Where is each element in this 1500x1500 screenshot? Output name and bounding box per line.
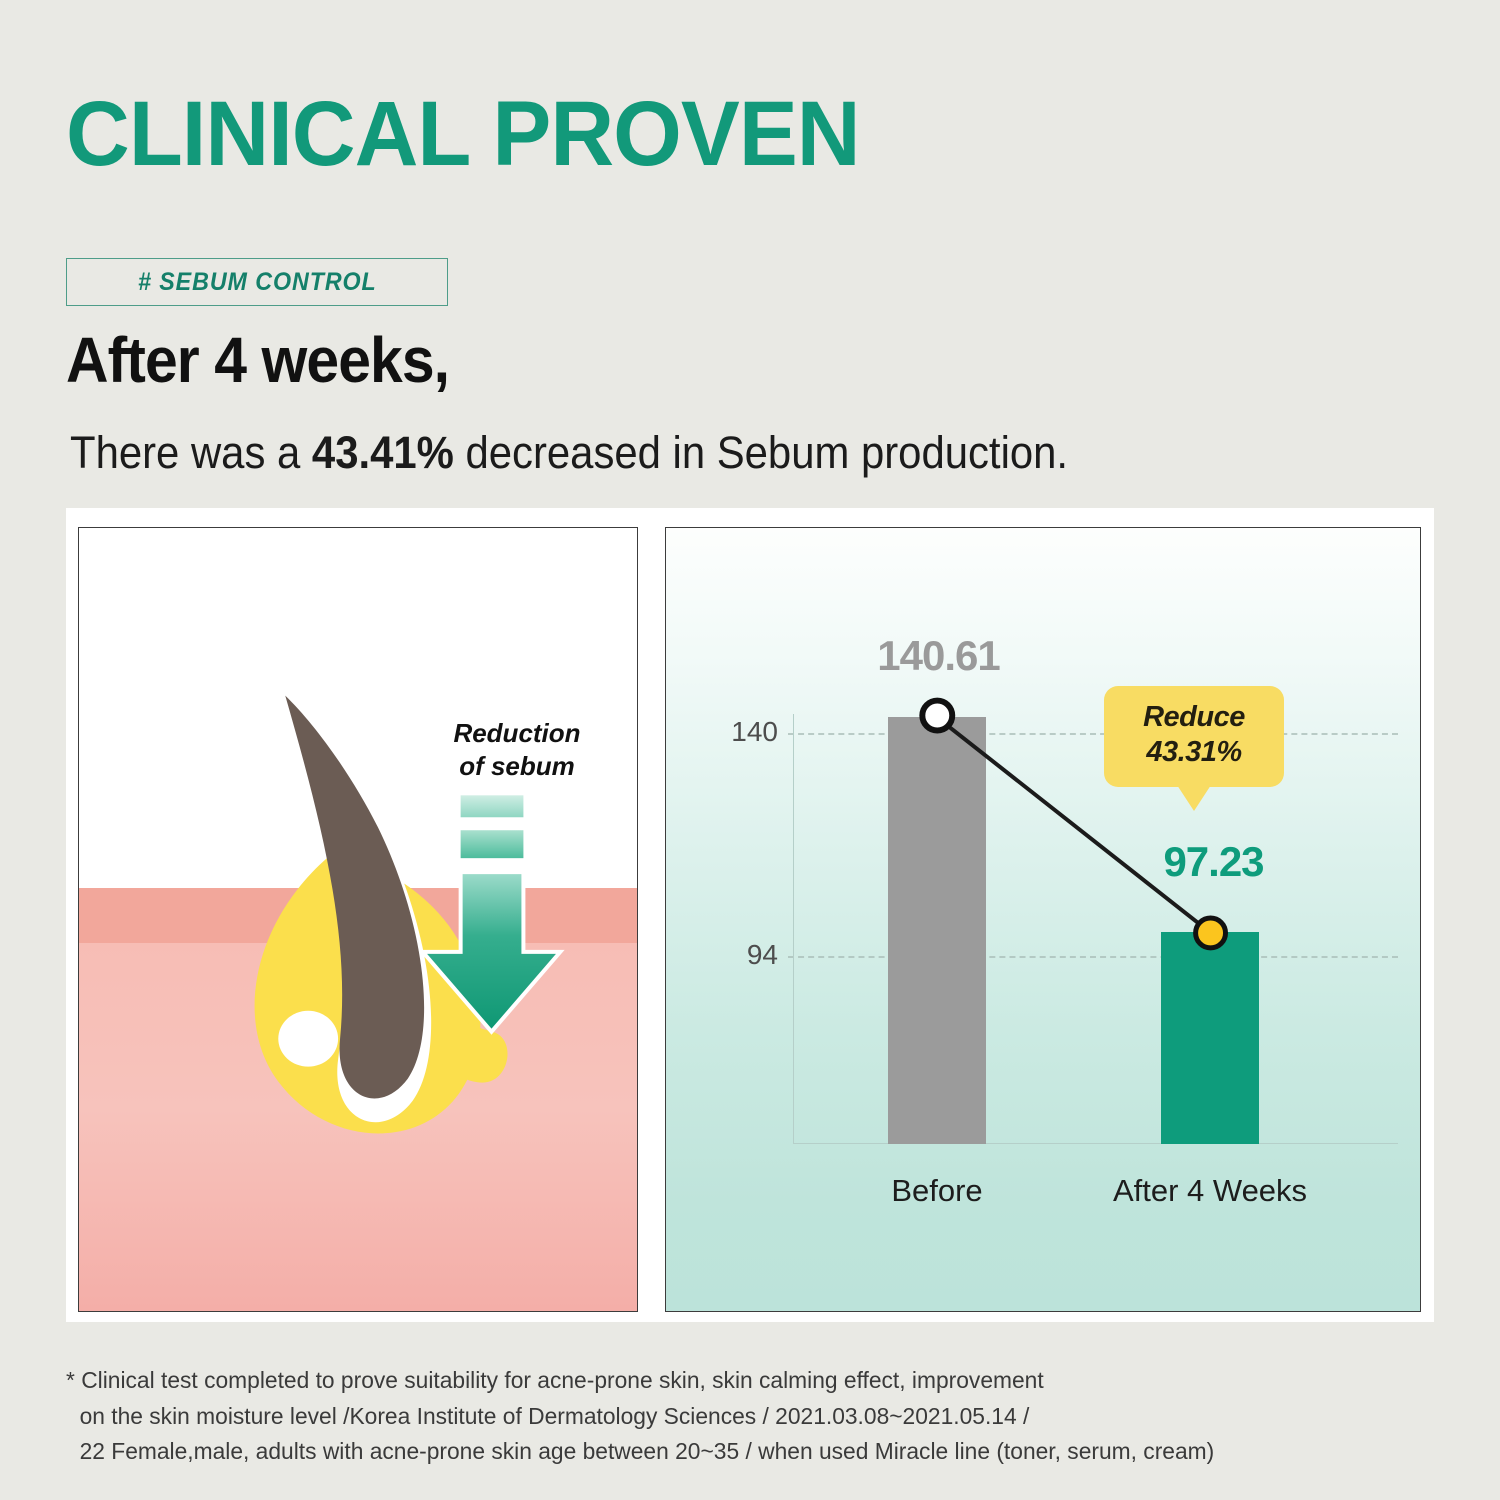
reduction-caption-line2: of sebum <box>427 750 607 783</box>
y-tick-label-140: 140 <box>708 716 778 748</box>
callout-line1: Reduce <box>1114 700 1274 735</box>
reduction-caption-line1: Reduction <box>427 717 607 750</box>
value-label-before: 140.61 <box>851 632 1026 680</box>
x-axis-line <box>793 1143 1398 1144</box>
gridline-94 <box>788 956 1398 958</box>
bar-before <box>888 717 986 1144</box>
hair-follicle-icon <box>79 528 637 1311</box>
value-label-after: 97.23 <box>1126 838 1301 886</box>
reduction-caption: Reduction of sebum <box>427 717 607 782</box>
page-title: CLINICAL PROVEN <box>66 88 860 180</box>
callout-line2: 43.31% <box>1114 735 1274 770</box>
subheading: After 4 weeks, <box>66 327 449 395</box>
y-tick-label-94: 94 <box>708 939 778 971</box>
x-label-after: After 4 Weeks <box>1105 1173 1315 1209</box>
footnote: * Clinical test completed to prove suita… <box>66 1363 1214 1470</box>
footnote-line-1: * Clinical test completed to prove suita… <box>66 1363 1214 1399</box>
body-suffix: decreased in Sebum production. <box>454 427 1068 478</box>
skin-illustration-panel: Reduction of sebum <box>78 527 638 1312</box>
sebum-bar-chart: 140 94 140.61 97.23 Reduce 43.31% Before… <box>665 527 1421 1312</box>
x-label-before: Before <box>847 1173 1027 1209</box>
body-highlight: 43.41% <box>312 427 454 478</box>
body-statement: There was a 43.41% decreased in Sebum pr… <box>70 428 1068 478</box>
sebum-control-badge: # SEBUM CONTROL <box>66 258 448 306</box>
footnote-line-3: 22 Female,male, adults with acne-prone s… <box>66 1434 1214 1470</box>
badge-label: # SEBUM CONTROL <box>138 268 377 297</box>
bar-after-4-weeks <box>1161 932 1259 1144</box>
reduce-callout: Reduce 43.31% <box>1104 686 1284 787</box>
arrow-dash-1 <box>461 795 524 817</box>
arrow-dash-2 <box>461 830 524 858</box>
body-prefix: There was a <box>70 427 312 478</box>
footnote-line-2: on the skin moisture level /Korea Instit… <box>66 1399 1214 1435</box>
follicle-bulb <box>278 1011 338 1067</box>
y-axis-line <box>793 714 794 1144</box>
gridline-140 <box>788 733 1398 735</box>
